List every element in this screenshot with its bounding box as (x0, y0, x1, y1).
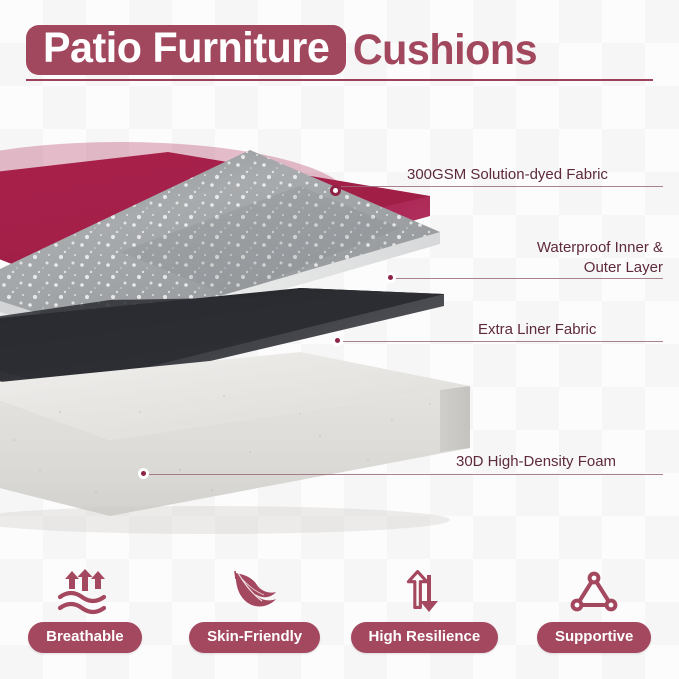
feature-high-resilience-badge[interactable]: High Resilience (351, 622, 499, 653)
callout-foam-leader-line (149, 474, 663, 475)
callout-liner-marker (332, 335, 343, 346)
breathable-waves-icon (54, 568, 116, 616)
feather-icon (224, 568, 286, 616)
feature-breathable: Breathable (0, 560, 170, 679)
callout-foam-label: 30D High-Density Foam (456, 452, 616, 472)
callout-foam-marker (138, 468, 149, 479)
feature-skin-friendly: Skin-Friendly (170, 560, 340, 679)
feature-supportive: Supportive (509, 560, 679, 679)
feature-high-resilience: High Resilience (340, 560, 510, 679)
feature-skin-friendly-badge[interactable]: Skin-Friendly (189, 622, 320, 653)
callout-liner-leader-line (343, 341, 663, 342)
cushion-layer-diagram (0, 0, 679, 560)
feature-supportive-badge[interactable]: Supportive (537, 622, 651, 653)
callout-waterproof-leader-line (396, 278, 663, 279)
up-down-arrows-icon (393, 568, 455, 616)
feature-badge-row: Breathable Skin-Friendly High Resili (0, 560, 679, 679)
callout-fabric-leader-line (341, 186, 663, 187)
triangle-nodes-icon (563, 568, 625, 616)
callout-fabric-label: 300GSM Solution-dyed Fabric (407, 165, 608, 185)
callout-fabric-marker (330, 185, 341, 196)
callout-liner-label: Extra Liner Fabric (478, 320, 596, 340)
layer-high-density-foam (0, 352, 470, 534)
product-infographic-page: Patio Furniture Cushions (0, 0, 679, 679)
callout-waterproof-marker (385, 272, 396, 283)
callout-waterproof-label-line1: Waterproof Inner & (400, 238, 663, 258)
callout-waterproof-label-line2: Outer Layer (400, 258, 663, 278)
feature-breathable-badge[interactable]: Breathable (28, 622, 142, 653)
